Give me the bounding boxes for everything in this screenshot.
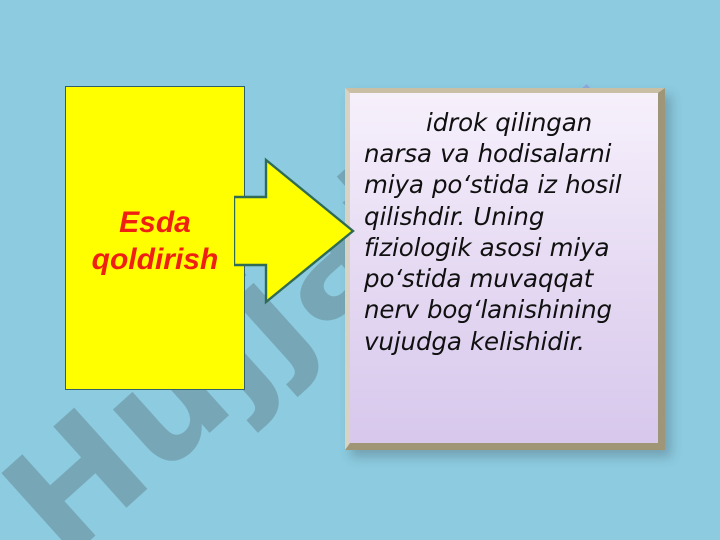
definition-text-card: idrok qilingan narsa va hodisalarni miya…: [345, 88, 665, 450]
slide-canvas: Hujjat 24 Esda qoldirish idrok qilingan …: [0, 0, 720, 540]
esda-qoldirish-card: Esda qoldirish: [65, 86, 245, 390]
right-arrow-icon: [234, 157, 356, 305]
esda-qoldirish-label: Esda qoldirish: [66, 204, 244, 279]
definition-body-text: idrok qilingan narsa va hodisalarni miya…: [364, 107, 646, 357]
